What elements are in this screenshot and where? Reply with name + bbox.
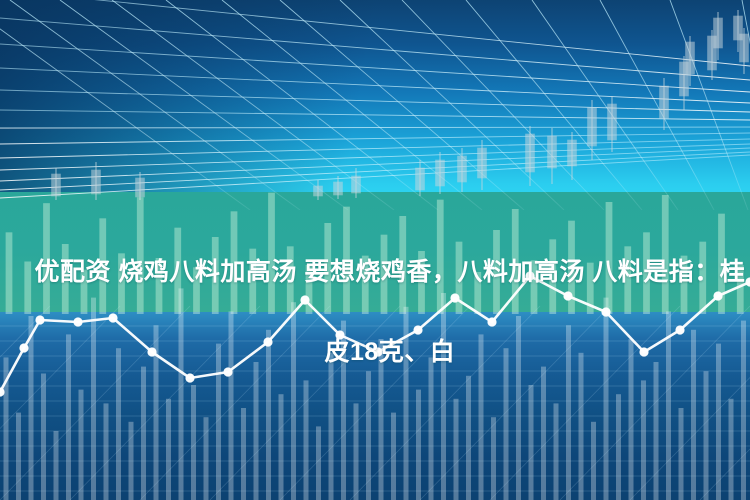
caption-line-2: 皮18克、白	[324, 338, 455, 366]
candlestick-chart	[0, 0, 750, 215]
caption-text: 优配资 烧鸡八料加高汤 要想烧鸡香，八料加高汤 八料是指：桂 皮18克、白	[0, 212, 750, 412]
caption-line-1: 优配资 烧鸡八料加高汤 要想烧鸡香，八料加高汤 八料是指：桂	[34, 258, 745, 286]
stock-market-banner: 优配资 烧鸡八料加高汤 要想烧鸡香，八料加高汤 八料是指：桂 皮18克、白	[0, 0, 750, 500]
